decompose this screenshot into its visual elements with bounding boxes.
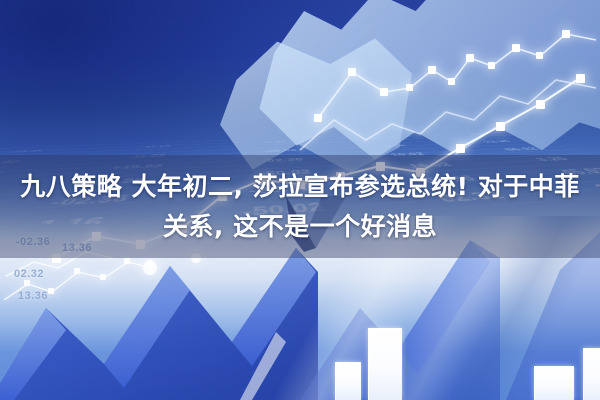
news-banner-image: -00.3521.6545.02-08.128.3645.02-11.25-08… bbox=[0, 0, 600, 400]
bar-column bbox=[335, 362, 361, 400]
bar-column bbox=[583, 348, 600, 400]
bar-chart-columns bbox=[0, 264, 600, 400]
headline-line-2: 关系, 这不是一个好消息 bbox=[0, 207, 600, 247]
floating-ticker-value: 13.36 bbox=[18, 290, 48, 302]
bar-column bbox=[368, 328, 402, 400]
headline-line-1: 九八策略 大年初二, 莎拉宣布参选总统! 对于中菲 bbox=[0, 167, 600, 207]
floating-ticker-value: 02.32 bbox=[14, 268, 44, 280]
headline-band: 九八策略 大年初二, 莎拉宣布参选总统! 对于中菲 关系, 这不是一个好消息 bbox=[0, 155, 600, 258]
bar-column bbox=[534, 366, 574, 400]
